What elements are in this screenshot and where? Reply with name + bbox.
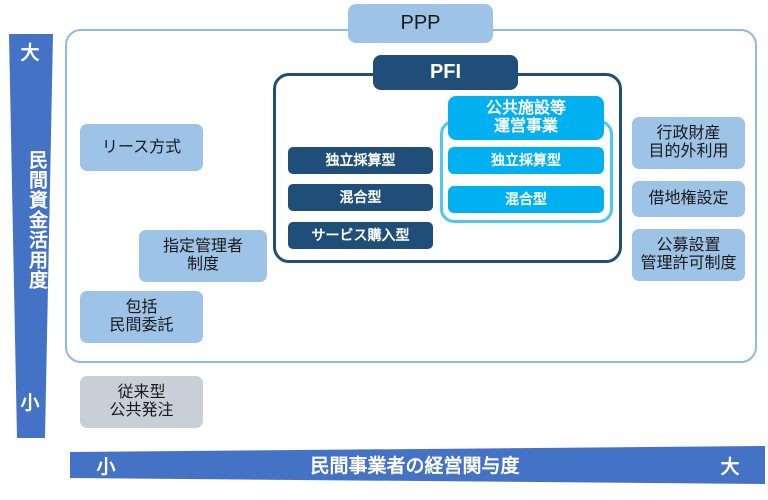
horizontal-axis-left-label: 小 — [88, 452, 124, 479]
pfi-type-dokuritsu[interactable]: 独立採算型 — [288, 147, 433, 174]
outside-box-juraigata[interactable]: 従来型 公共発注 — [80, 376, 203, 428]
left-box-shitei-kanri[interactable]: 指定管理者 制度 — [139, 230, 267, 282]
unei-type-kongo[interactable]: 混合型 — [448, 186, 604, 213]
pfi-chip[interactable]: PFI — [373, 55, 518, 90]
pfi-type-service[interactable]: サービス購入型 — [288, 222, 433, 249]
vertical-axis-top-label: 大 — [8, 38, 52, 65]
left-box-houkatsu[interactable]: 包括 民間委託 — [80, 291, 203, 343]
pfi-type-kongo[interactable]: 混合型 — [288, 184, 433, 211]
right-box-kobo-setchi[interactable]: 公募設置 管理許可制度 — [632, 229, 745, 281]
diagram-canvas: 大 民間資金活用度 小 小 民間事業者の経営関与度 大 PPP PFI 公共施設… — [0, 0, 768, 500]
vertical-axis-label: 民間資金活用度 — [10, 150, 50, 290]
left-box-lease[interactable]: リース方式 — [80, 124, 203, 171]
horizontal-axis-right-label: 大 — [712, 452, 748, 479]
unei-chip[interactable]: 公共施設等 運営事業 — [448, 96, 604, 140]
right-box-gyosei-zaisan[interactable]: 行政財産 目的外利用 — [632, 117, 745, 169]
unei-type-dokuritsu[interactable]: 独立採算型 — [448, 147, 604, 174]
horizontal-axis-label: 民間事業者の経営関与度 — [280, 451, 550, 478]
right-box-shakuchiken[interactable]: 借地権設定 — [632, 181, 745, 217]
vertical-axis-bottom-label: 小 — [13, 388, 47, 415]
ppp-chip[interactable]: PPP — [348, 4, 493, 43]
